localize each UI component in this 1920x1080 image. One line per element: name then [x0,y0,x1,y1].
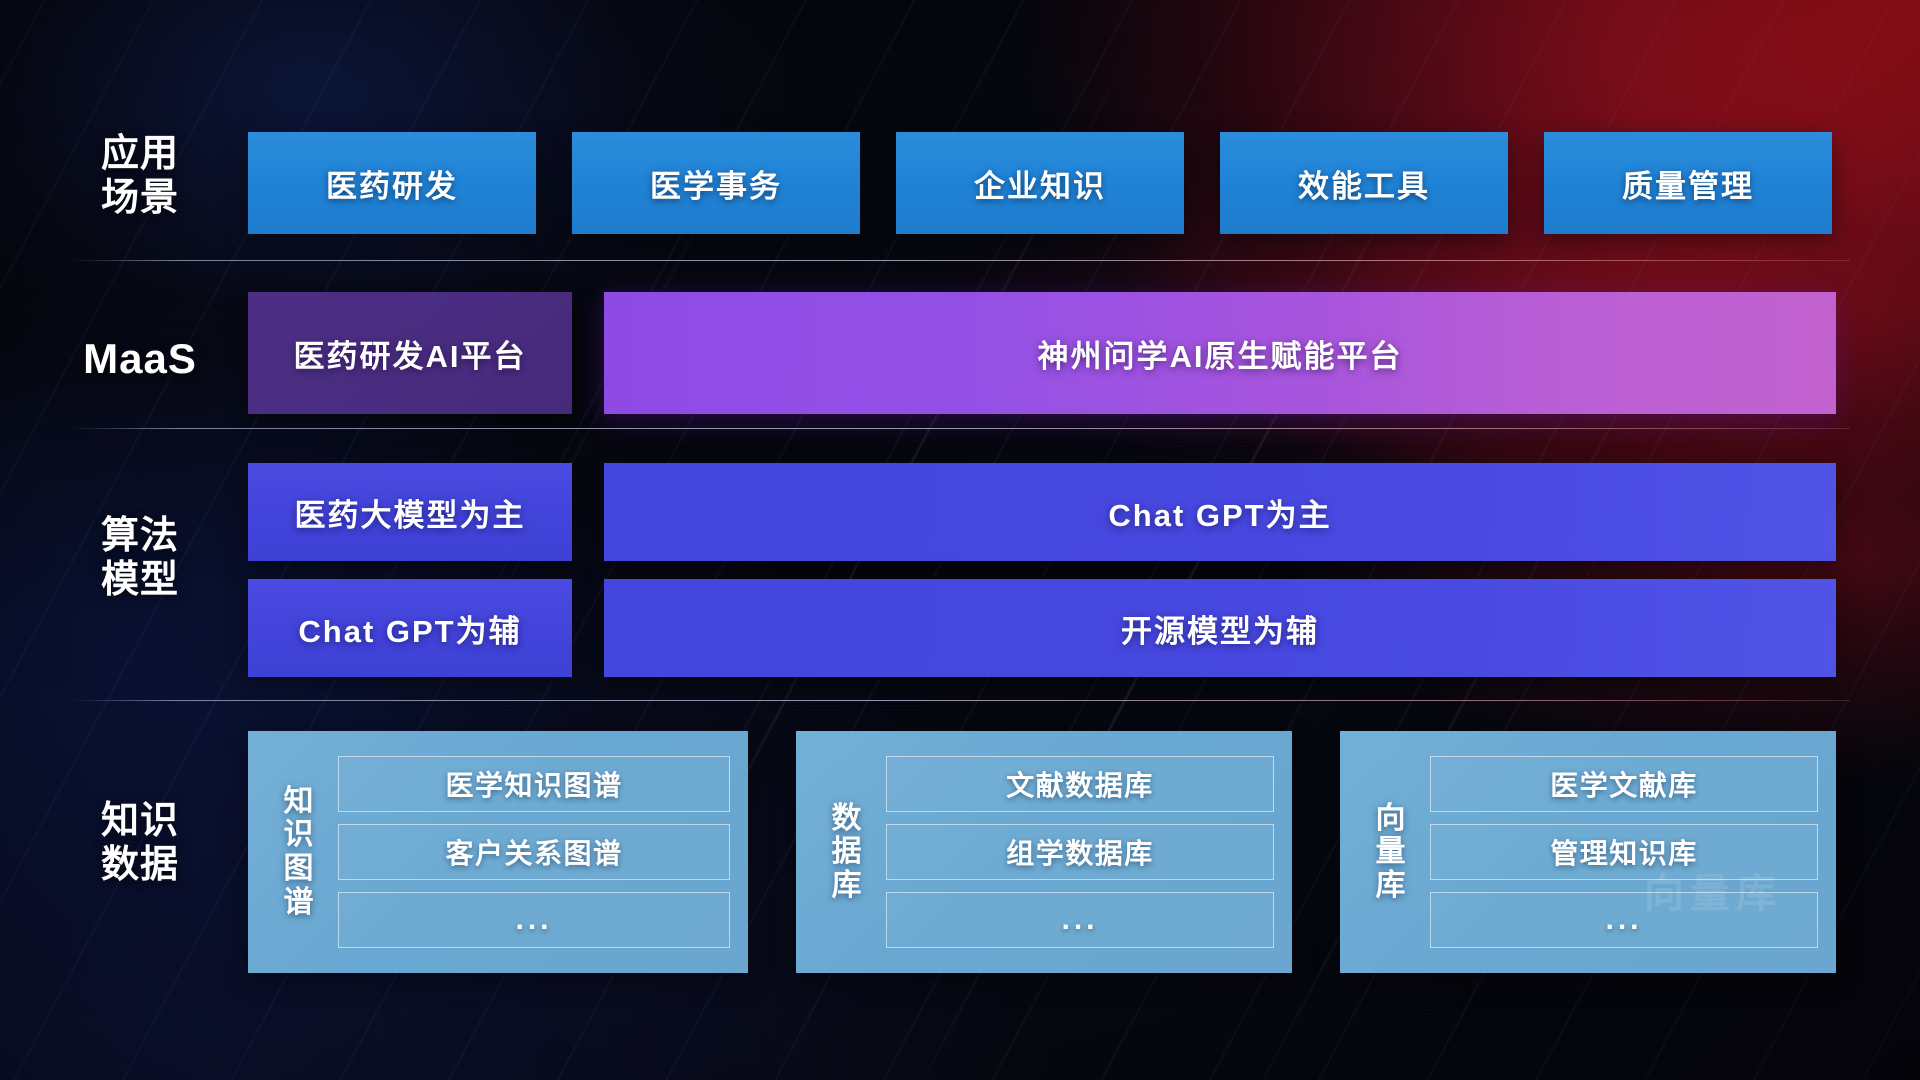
row-label-application-scenarios: 应用 场景 [70,133,210,220]
knowledge-item-vec-1[interactable]: 医学文献库 [1430,756,1818,812]
algo-card-left-secondary[interactable]: Chat GPT为辅 [248,579,572,677]
algo-card-right-primary[interactable]: Chat GPT为主 [604,463,1836,561]
scenario-card-2-label: 医学事务 [650,161,782,206]
scenario-card-3[interactable]: 企业知识 [896,132,1184,234]
knowledge-group-vector-store-items: 医学文献库 管理知识库 ... [1420,756,1818,948]
maas-platform-card-shenzhou-label: 神州问学AI原生赋能平台 [1038,331,1403,376]
scenario-card-5-label: 质量管理 [1622,161,1754,206]
knowledge-group-database[interactable]: 数据库 文献数据库 组学数据库 ... [796,731,1292,973]
algo-card-right-primary-label: Chat GPT为主 [1108,490,1331,535]
knowledge-item-kg-1-label: 医学知识图谱 [445,764,622,804]
knowledge-item-vec-3[interactable]: ... [1430,892,1818,948]
row-label-knowledge-data: 知识 数据 [70,800,210,887]
knowledge-group-database-label: 数据库 [818,802,876,903]
knowledge-item-db-3[interactable]: ... [886,892,1274,948]
knowledge-item-kg-3-label: ... [515,903,552,937]
knowledge-item-kg-2-label: 客户关系图谱 [445,832,622,872]
scenario-card-5[interactable]: 质量管理 [1544,132,1832,234]
knowledge-item-kg-2[interactable]: 客户关系图谱 [338,824,730,880]
knowledge-item-db-1[interactable]: 文献数据库 [886,756,1274,812]
architecture-diagram: 应用 场景 医药研发 医学事务 企业知识 效能工具 质量管理 MaaS [0,0,1920,1080]
scenario-card-4-label: 效能工具 [1298,161,1430,206]
knowledge-item-db-2[interactable]: 组学数据库 [886,824,1274,880]
scenario-card-2[interactable]: 医学事务 [572,132,860,234]
divider-2 [70,428,1850,429]
row-label-knowledge-line-2: 数据 [70,844,210,888]
algo-card-left-secondary-label: Chat GPT为辅 [298,606,521,651]
knowledge-item-db-3-label: ... [1061,903,1098,937]
maas-platform-card-shenzhou[interactable]: 神州问学AI原生赋能平台 [604,292,1836,414]
knowledge-group-knowledge-graph-label: 知识图谱 [270,785,328,919]
scenario-card-3-label: 企业知识 [974,161,1106,206]
knowledge-group-database-items: 文献数据库 组学数据库 ... [876,756,1274,948]
row-label-line-2: 场景 [70,177,210,221]
divider-1 [70,260,1850,261]
knowledge-group-vector-store[interactable]: 向量库 医学文献库 管理知识库 ... 向量库 [1340,731,1836,973]
knowledge-item-vec-2[interactable]: 管理知识库 [1430,824,1818,880]
knowledge-item-db-2-label: 组学数据库 [1006,832,1154,872]
maas-platform-card-pharma-label: 医药研发AI平台 [294,331,527,376]
knowledge-item-kg-3[interactable]: ... [338,892,730,948]
row-label-algo-line-1: 算法 [70,515,210,559]
divider-3 [70,700,1850,701]
scenario-card-4[interactable]: 效能工具 [1220,132,1508,234]
knowledge-group-knowledge-graph-items: 医学知识图谱 客户关系图谱 ... [328,756,730,948]
knowledge-item-vec-1-label: 医学文献库 [1550,764,1698,804]
slide-canvas: 应用 场景 医药研发 医学事务 企业知识 效能工具 质量管理 MaaS [0,0,1920,1080]
row-label-algorithm-models: 算法 模型 [70,515,210,602]
knowledge-group-knowledge-graph[interactable]: 知识图谱 医学知识图谱 客户关系图谱 ... [248,731,748,973]
row-label-algo-line-2: 模型 [70,559,210,603]
algo-card-right-secondary[interactable]: 开源模型为辅 [604,579,1836,677]
knowledge-item-vec-3-label: ... [1605,903,1642,937]
algo-card-left-primary[interactable]: 医药大模型为主 [248,463,572,561]
knowledge-item-db-1-label: 文献数据库 [1006,764,1154,804]
scenario-card-1[interactable]: 医药研发 [248,132,536,234]
algo-card-right-secondary-label: 开源模型为辅 [1121,606,1319,651]
knowledge-item-kg-1[interactable]: 医学知识图谱 [338,756,730,812]
algo-card-left-primary-label: 医药大模型为主 [295,490,526,535]
scenario-card-1-label: 医药研发 [326,161,458,206]
knowledge-group-vector-store-label: 向量库 [1362,802,1420,903]
row-label-line-1: 应用 [70,133,210,177]
knowledge-item-vec-2-label: 管理知识库 [1550,832,1698,872]
row-label-maas: MaaS [70,335,210,383]
maas-platform-card-pharma[interactable]: 医药研发AI平台 [248,292,572,414]
row-label-knowledge-line-1: 知识 [70,800,210,844]
